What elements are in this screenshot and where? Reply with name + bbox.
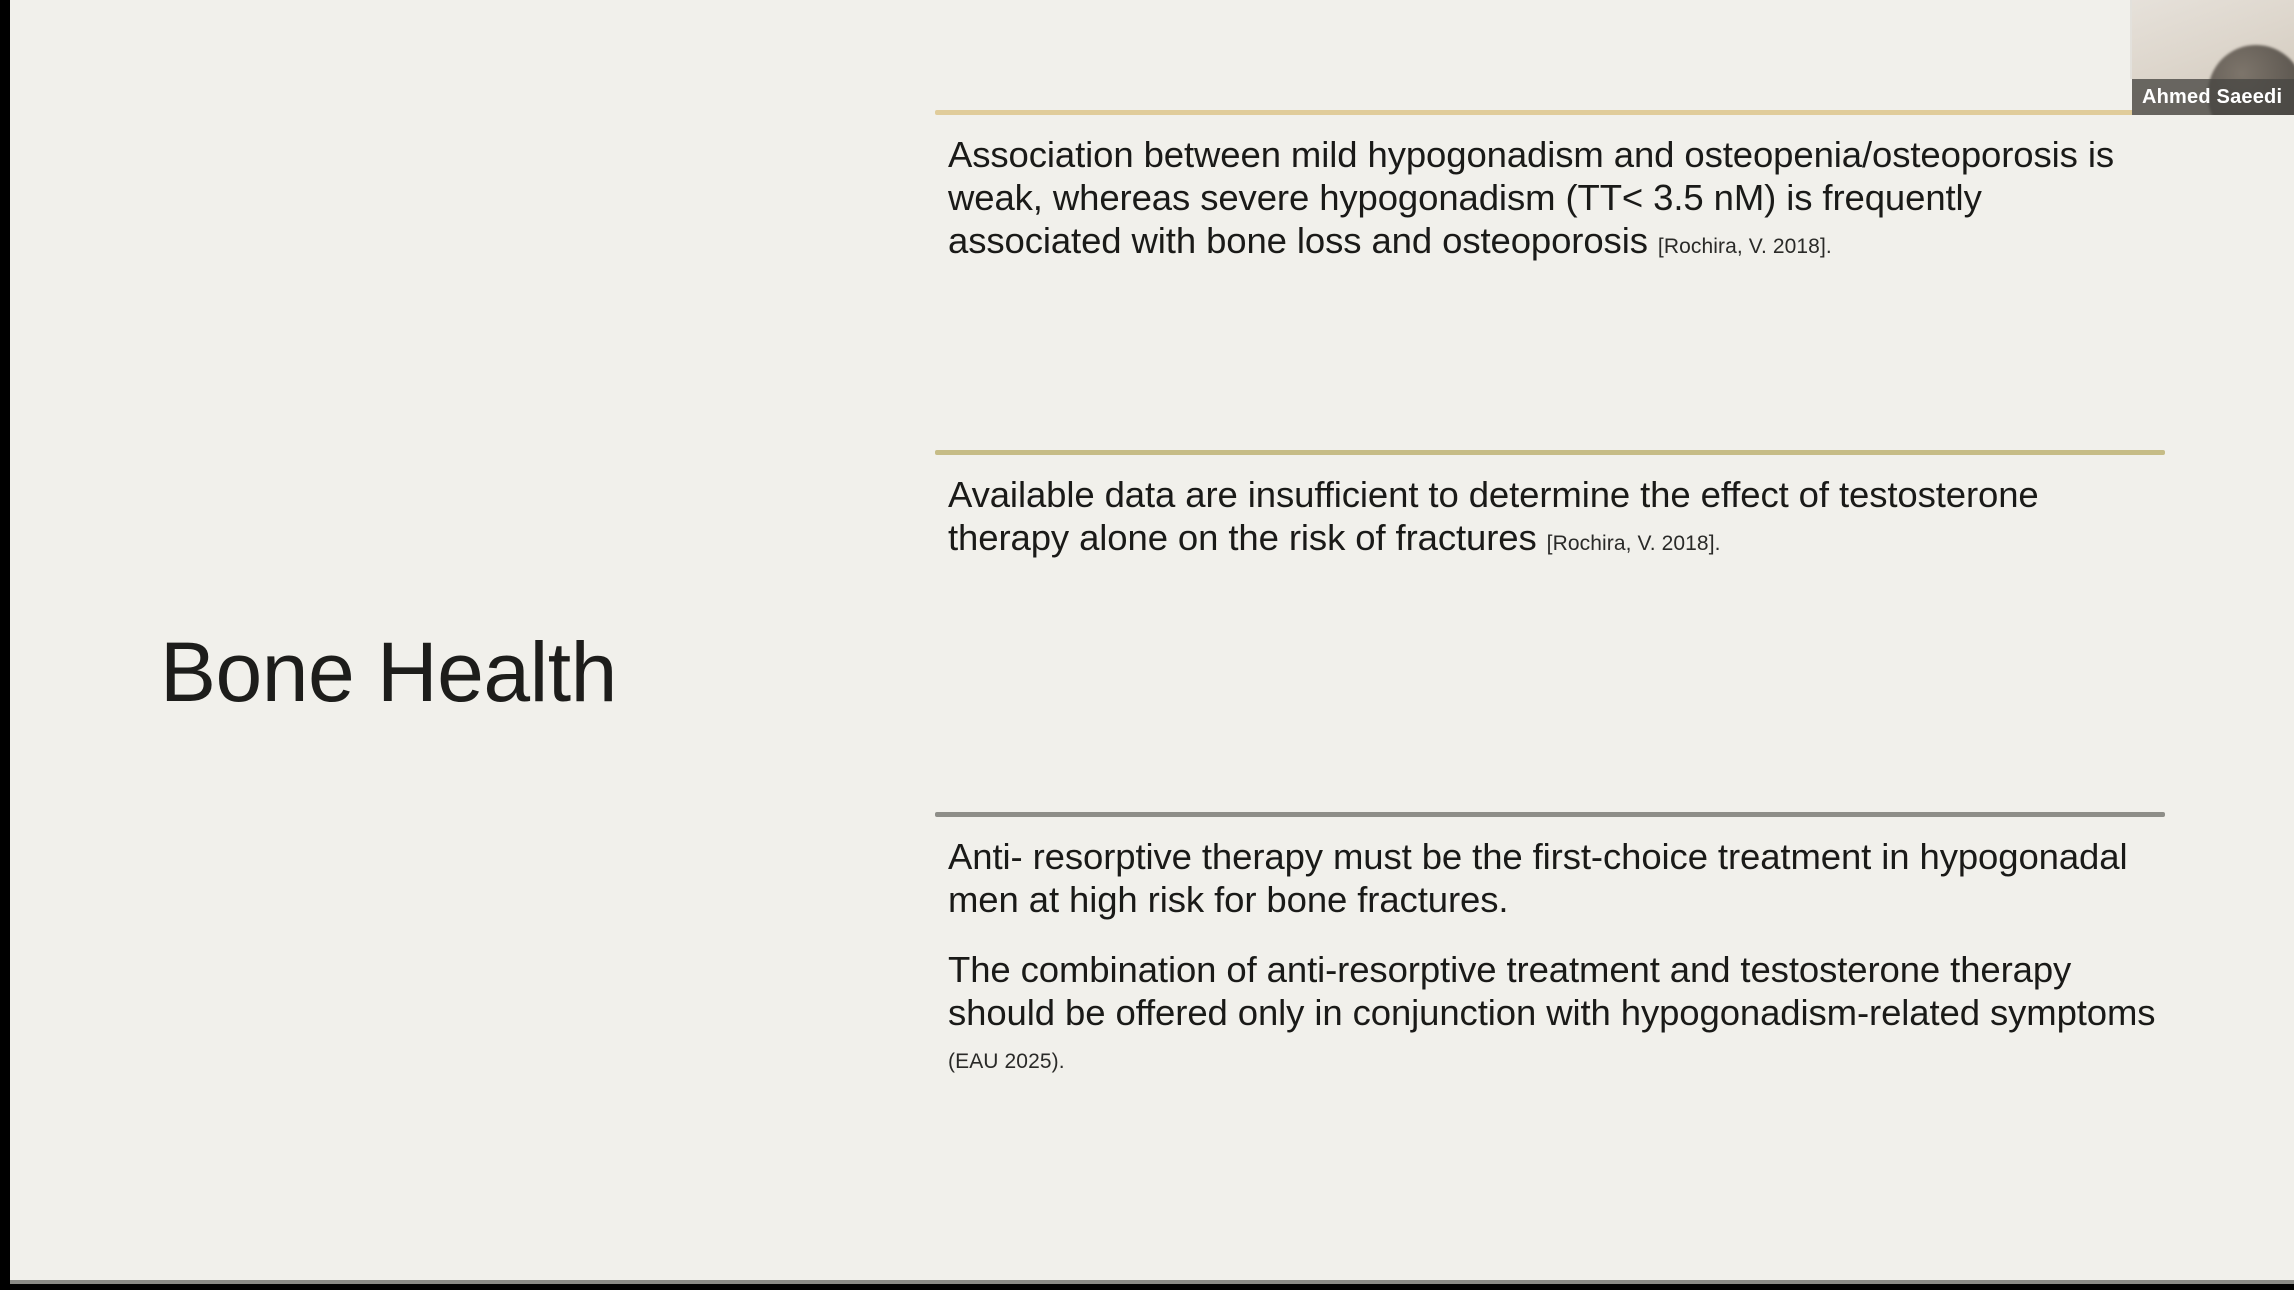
presentation-slide: Bone Health Association between mild hyp… xyxy=(10,0,2294,1280)
paragraph: Available data are insufficient to deter… xyxy=(948,473,2161,559)
paragraph: Association between mild hypogonadism an… xyxy=(948,133,2161,262)
participant-name-bar: Ahmed Saeedi xyxy=(2132,79,2294,115)
content-block-3-body: Anti- resorptive therapy must be the fir… xyxy=(935,817,2165,1077)
slide-content-column: Association between mild hypogonadism an… xyxy=(935,0,2165,1280)
screen-share-view: Bone Health Association between mild hyp… xyxy=(0,0,2294,1290)
citation: (EAU 2025). xyxy=(948,1050,1065,1073)
paragraph-text: Anti- resorptive therapy must be the fir… xyxy=(948,836,2127,920)
content-block-1: Association between mild hypogonadism an… xyxy=(935,110,2165,262)
content-block-2: Available data are insufficient to deter… xyxy=(935,450,2165,559)
participant-video-tile[interactable]: Ahmed Saeedi xyxy=(2132,0,2294,115)
content-block-2-body: Available data are insufficient to deter… xyxy=(935,455,2165,559)
content-block-3: Anti- resorptive therapy must be the fir… xyxy=(935,812,2165,1077)
paragraph-text: Association between mild hypogonadism an… xyxy=(948,134,2114,261)
citation: [Rochira, V. 2018]. xyxy=(1547,532,1721,555)
content-block-1-body: Association between mild hypogonadism an… xyxy=(935,115,2165,262)
paragraph: Anti- resorptive therapy must be the fir… xyxy=(948,835,2161,921)
page-title: Bone Health xyxy=(160,628,860,716)
slide-bottom-border xyxy=(10,1280,2294,1284)
paragraph: The combination of anti-resorptive treat… xyxy=(948,948,2161,1077)
paragraph-text: The combination of anti-resorptive treat… xyxy=(948,949,2155,1033)
paragraph-text: Available data are insufficient to deter… xyxy=(948,474,2039,558)
citation: [Rochira, V. 2018]. xyxy=(1658,235,1832,258)
participant-name-label: Ahmed Saeedi xyxy=(2142,86,2282,109)
